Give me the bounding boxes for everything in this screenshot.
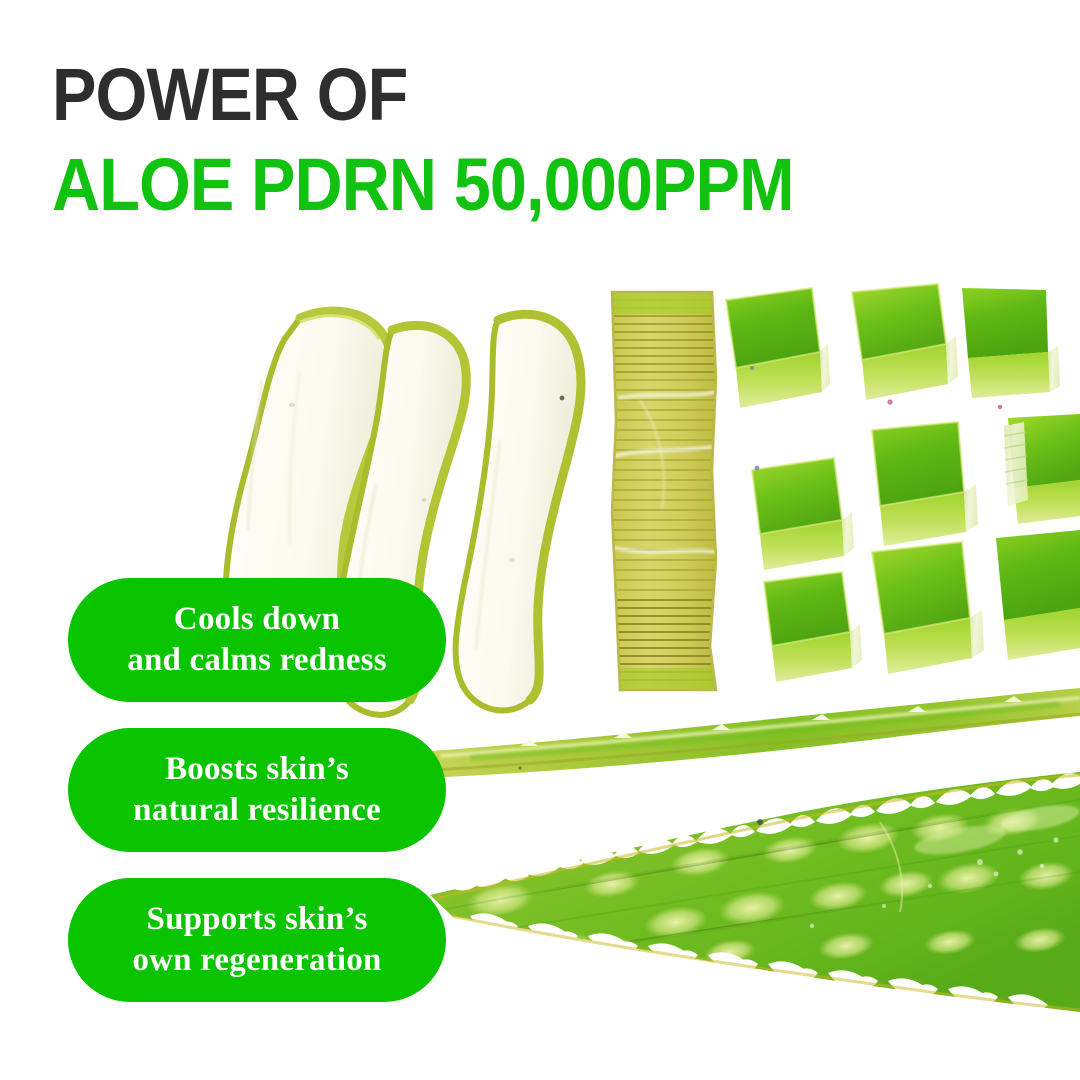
headline: POWER OF ALOE PDRN 50,000PPM [52, 58, 876, 222]
aloe-whole-leaf [430, 772, 1080, 1012]
benefit-pill-3: Supports skin’s own regeneration [68, 878, 446, 1002]
benefit-pill-3-line-1: Supports skin’s [147, 899, 368, 940]
benefit-pill-3-line-2: own regeneration [132, 940, 381, 981]
aloe-fibrous-slab [600, 292, 730, 692]
aloe-fillet-slice-3 [456, 314, 581, 710]
benefit-pill-list: Cools down and calms redness Boosts skin… [68, 578, 446, 1002]
benefit-pill-2: Boosts skin’s natural resilience [68, 728, 446, 852]
benefit-pill-1: Cools down and calms redness [68, 578, 446, 702]
benefit-pill-1-line-1: Cools down [174, 599, 340, 640]
benefit-pill-2-line-2: natural resilience [133, 790, 381, 831]
aloe-diced-cubes [726, 284, 1080, 682]
poster-canvas: POWER OF ALOE PDRN 50,000PPM Cools down … [0, 0, 1080, 1080]
benefit-pill-2-line-1: Boosts skin’s [165, 749, 349, 790]
headline-line-2: ALOE PDRN 50,000PPM [52, 148, 794, 222]
headline-line-1: POWER OF [52, 58, 794, 132]
benefit-pill-1-line-2: and calms redness [127, 640, 387, 681]
